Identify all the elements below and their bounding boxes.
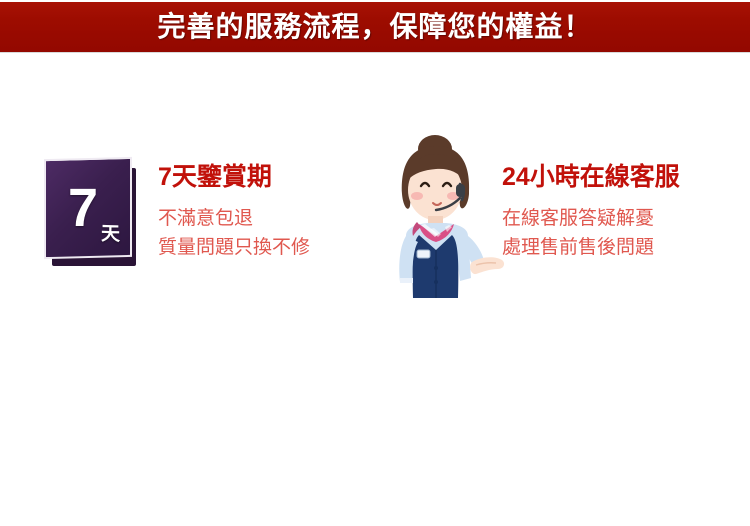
header-banner: 完善的服務流程，保障您的權益！: [0, 2, 750, 52]
page-title: 完善的服務流程，保障您的權益！: [157, 13, 592, 41]
badge-unit: 天: [101, 219, 120, 246]
guarantee-right-line-2: 處理售前售後問題: [502, 233, 680, 262]
guarantee-right-text: 24小時在線客服 在線客服答疑解憂 處理售前售後問題: [502, 164, 680, 262]
guarantee-right-line-1: 在線客服答疑解憂: [502, 204, 680, 233]
badge-number: 7: [68, 181, 98, 235]
seven-day-badge: 7 天: [44, 158, 132, 258]
guarantee-left-heading: 7天鑒賞期: [158, 164, 310, 192]
guarantee-left-line-1: 不滿意包退: [158, 204, 310, 233]
logos-row: pelican 宅配通 到府宅配: [0, 400, 750, 526]
guarantee-left-text: 7天鑒賞期 不滿意包退 質量問題只換不修: [158, 164, 310, 262]
guarantee-left-line-2: 質量問題只換不修: [158, 233, 310, 262]
promo-page: 完善的服務流程，保障您的權益！ 7 天 7天鑒賞期 不滿意包退 質量問題只換不修: [0, 0, 750, 526]
payment-methods-row: $ 貨到付款 貨品宅配到府時，收件人 以現金支付產品貨款，一 手交錢一手交貨，增…: [0, 265, 750, 395]
guarantee-right-heading: 24小時在線客服: [502, 164, 680, 192]
guarantee-row: 7 天 7天鑒賞期 不滿意包退 質量問題只換不修: [0, 60, 750, 245]
